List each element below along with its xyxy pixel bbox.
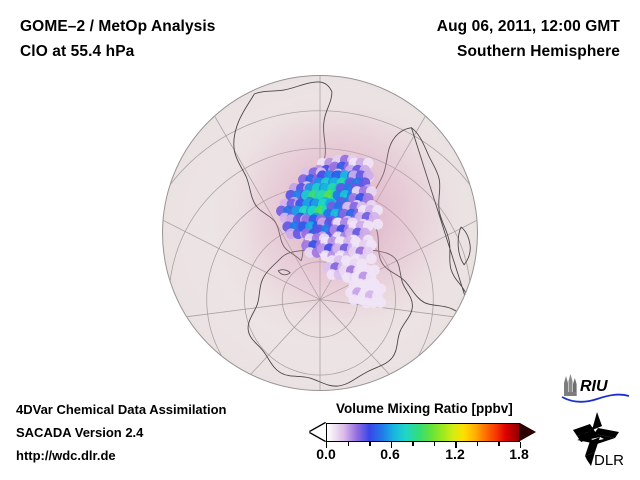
plume-cells xyxy=(276,155,386,308)
dlr-logo: DLR xyxy=(561,410,631,468)
clo-data-plume xyxy=(163,76,477,390)
version-label: SACADA Version 2.4 xyxy=(16,425,143,440)
colorbar-tick-label-2: 1.2 xyxy=(445,446,464,462)
method-label: 4DVar Chemical Data Assimilation xyxy=(16,402,227,417)
instrument-title: GOME–2 / MetOp Analysis xyxy=(20,18,216,36)
globe-disc xyxy=(162,75,478,391)
colorbar-gradient xyxy=(326,423,520,442)
plume-cell xyxy=(366,253,377,264)
colorbar-tick-label-0: 0.0 xyxy=(316,446,335,462)
colorbar-ticks xyxy=(326,442,520,448)
colorbar-title: Volume Mixing Ratio [ppbv] xyxy=(336,401,513,416)
polar-stereographic-map xyxy=(162,75,478,391)
colorbar-tick-label-1: 0.6 xyxy=(380,446,399,462)
dlr-wordmark: DLR xyxy=(594,452,624,468)
colorbar-underflow-arrow xyxy=(310,423,326,441)
datetime-label: Aug 06, 2011, 12:00 GMT xyxy=(437,18,620,36)
colorbar-overflow-arrow xyxy=(520,423,536,441)
wdc-url-link[interactable]: http://wdc.dlr.de xyxy=(16,448,116,463)
plume-cell xyxy=(372,219,383,230)
species-level-title: ClO at 55.4 hPa xyxy=(20,43,134,61)
hemisphere-label: Southern Hemisphere xyxy=(457,43,620,61)
colorbar-tick-label-3: 1.8 xyxy=(509,446,528,462)
plume-cell xyxy=(375,297,386,308)
riu-logo: RIU xyxy=(559,372,631,404)
riu-wordmark: RIU xyxy=(580,378,608,395)
colorbar[interactable] xyxy=(310,423,536,445)
riu-tower-icon xyxy=(564,374,577,396)
